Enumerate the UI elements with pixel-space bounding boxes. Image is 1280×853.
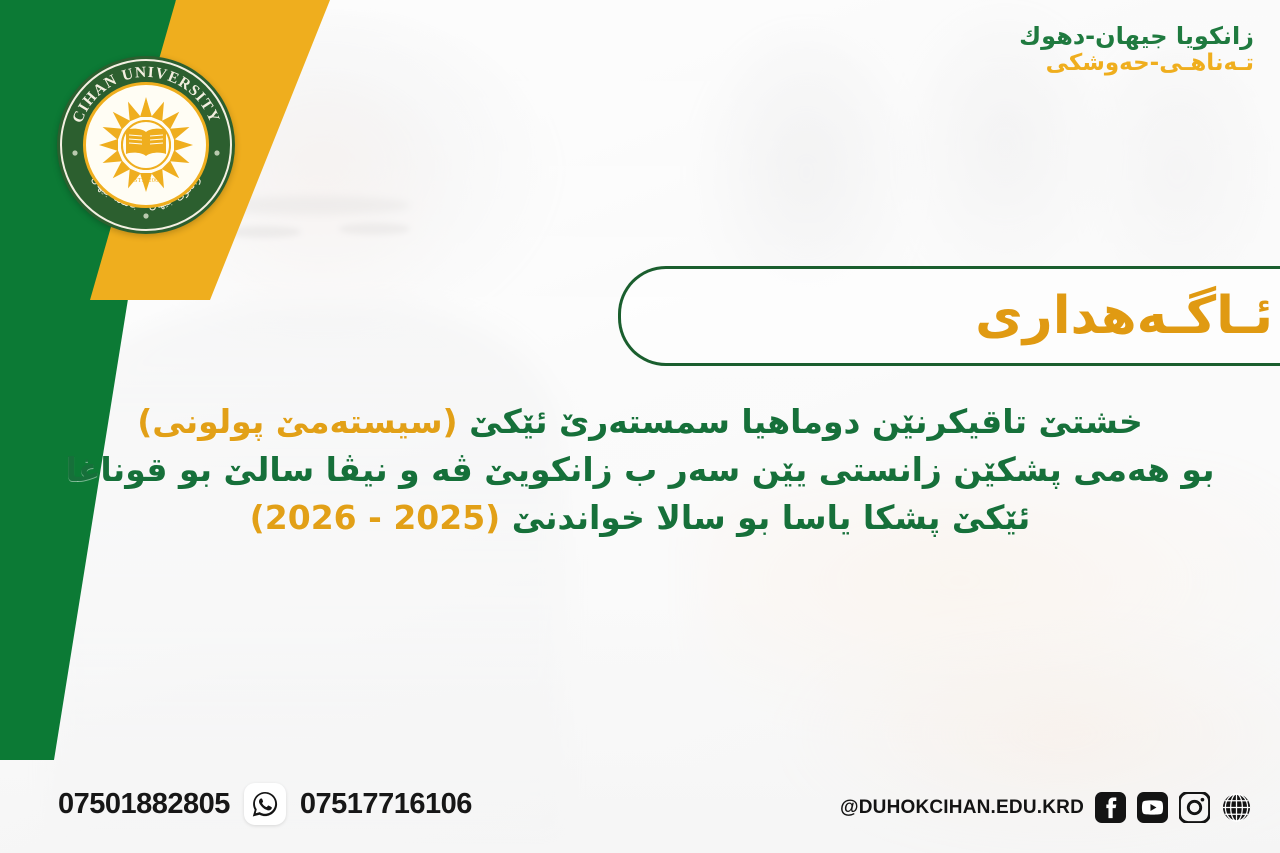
announcement-line-1-main: خشتێ تاقیکرنێن دوماهیا سمستەرێ ئێکێ — [458, 402, 1143, 441]
announcement-line-1: خشتێ تاقیکرنێن دوماهیا سمستەرێ ئێکێ (سیس… — [28, 398, 1252, 446]
whatsapp-icon[interactable] — [244, 783, 286, 825]
cihan-university-logo: CIHAN UNIVERSITY زانكۆی جیهان جامعة جيها… — [57, 56, 235, 234]
logo-established-text: ESTD 2007 — [130, 178, 162, 184]
social-handle: @DUHOKCIHAN.EDU.KRD — [840, 797, 1084, 819]
announcement-line-2: بو هەمی پشکێن زانستی یێن سەر ب زانکویێ ڤ… — [28, 446, 1252, 494]
wordmark: زانكويا جيهان-دهوك تـەناهـى-حەوشكى — [1019, 22, 1254, 77]
announcement-poster: CIHAN UNIVERSITY زانكۆی جیهان جامعة جيها… — [0, 0, 1280, 853]
contact-phones: 07501882805 07517716106 — [58, 783, 472, 825]
open-book-icon — [123, 126, 169, 160]
announcement-line-3: ئێکێ پشکا یاسا بو سالا خواندنێ (2025 - 2… — [28, 494, 1252, 542]
footer: 07501882805 07517716106 @DUHOKCIHAN.EDU.… — [0, 775, 1280, 831]
phone-number-1[interactable]: 07501882805 — [58, 788, 230, 821]
instagram-icon[interactable] — [1179, 792, 1210, 823]
social-links: @DUHOKCIHAN.EDU.KRD — [836, 792, 1252, 823]
facebook-icon[interactable] — [1095, 792, 1126, 823]
phone-number-2[interactable]: 07517716106 — [300, 788, 472, 821]
announcement-line-3-main: ئێکێ پشکا یاسا بو سالا خواندنێ — [500, 498, 1030, 537]
wordmark-line-1: زانكويا جيهان-دهوك — [1019, 22, 1254, 50]
announcement-title-banner: ئـاگـەهداری — [618, 266, 1280, 366]
announcement-body: خشتێ تاقیکرنێن دوماهیا سمستەرێ ئێکێ (سیس… — [0, 398, 1280, 543]
website-globe-icon[interactable] — [1221, 792, 1252, 823]
page-title: ئـاگـەهداری — [975, 286, 1280, 346]
announcement-line-3-highlight: (2025 - 2026) — [250, 498, 501, 537]
announcement-line-1-highlight: (سیستەمێ پولونی) — [137, 402, 457, 441]
youtube-icon[interactable] — [1137, 792, 1168, 823]
wordmark-line-2: تـەناهـى-حەوشكى — [1019, 50, 1254, 77]
